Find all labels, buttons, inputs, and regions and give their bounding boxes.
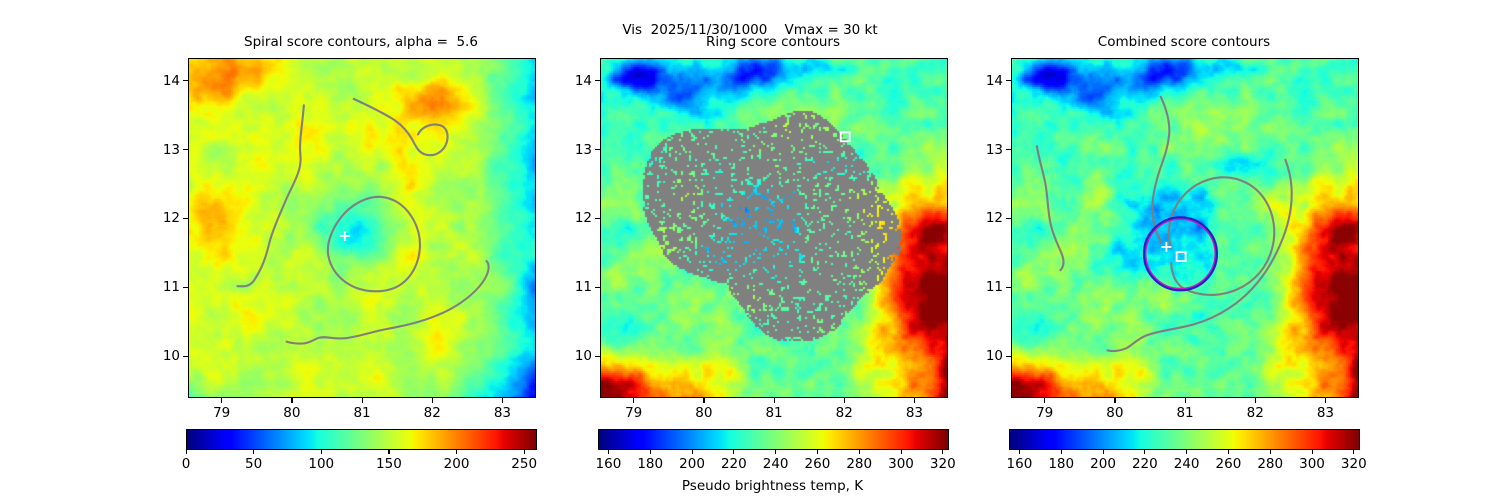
overlay-layer-combined <box>1012 59 1358 397</box>
x-tick-label-ring-1: 80 <box>695 405 712 421</box>
y-tick-label-combined-1: 11 <box>965 279 1003 295</box>
y-tick-label-ring-1: 11 <box>554 279 592 295</box>
y-tick-mark <box>1006 287 1011 288</box>
x-tick-mark <box>502 398 503 403</box>
colorbar-tick-mark <box>1144 450 1145 454</box>
score-contour-line <box>1169 177 1274 295</box>
x-tick-mark <box>1255 398 1256 403</box>
colorbar-tick-label-ring-6: 280 <box>846 456 872 472</box>
plot-area-spiral[interactable] <box>188 58 536 398</box>
colorbar-tick-mark <box>321 450 322 454</box>
colorbar-gradient-ring <box>599 430 948 449</box>
y-tick-mark <box>183 356 188 357</box>
overlay-layer-spiral <box>189 59 535 397</box>
y-tick-label-combined-2: 12 <box>965 210 1003 226</box>
colorbar-axis-label: Pseudo brightness temp, K <box>682 478 863 494</box>
x-tick-mark <box>432 398 433 403</box>
colorbar-tick-mark <box>817 450 818 454</box>
storm-center-plus-marker <box>340 231 350 241</box>
colorbar-tick-label-combined-8: 320 <box>1341 456 1367 472</box>
colorbar-tick-label-ring-5: 260 <box>805 456 831 472</box>
colorbar-tick-label-combined-5: 260 <box>1216 456 1242 472</box>
x-tick-label-combined-0: 79 <box>1036 405 1053 421</box>
x-tick-mark <box>221 398 222 403</box>
colorbar-gradient-spiral <box>187 430 536 449</box>
colorbar-tick-label-combined-4: 240 <box>1174 456 1200 472</box>
x-tick-label-spiral-3: 82 <box>424 405 441 421</box>
x-tick-mark <box>1325 398 1326 403</box>
colorbar-tick-label-combined-6: 280 <box>1257 456 1283 472</box>
x-tick-mark <box>633 398 634 403</box>
y-tick-label-spiral-0: 10 <box>142 348 180 364</box>
colorbar-tick-mark <box>1019 450 1020 454</box>
x-tick-label-spiral-0: 79 <box>213 405 230 421</box>
y-tick-mark <box>1006 149 1011 150</box>
colorbar-tick-label-combined-2: 200 <box>1090 456 1116 472</box>
colorbar-tick-mark <box>456 450 457 454</box>
figure-canvas: Vis 2025/11/30/1000 Vmax = 30 kt Spiral … <box>0 0 1500 500</box>
colorbar-tick-mark <box>608 450 609 454</box>
x-tick-label-combined-1: 80 <box>1106 405 1123 421</box>
y-tick-label-combined-4: 14 <box>965 73 1003 89</box>
colorbar-tick-label-combined-7: 300 <box>1299 456 1325 472</box>
x-tick-mark <box>1185 398 1186 403</box>
colorbar-ring[interactable] <box>598 429 949 450</box>
y-tick-mark <box>1006 80 1011 81</box>
score-contour-line <box>237 105 303 286</box>
ring-score-circle <box>1144 217 1217 290</box>
colorbar-tick-label-ring-4: 240 <box>763 456 789 472</box>
colorbar-tick-label-spiral-1: 50 <box>245 456 262 472</box>
score-contour-line <box>1037 146 1063 270</box>
y-tick-label-spiral-3: 13 <box>142 142 180 158</box>
x-tick-label-spiral-4: 83 <box>494 405 511 421</box>
panel-title-spiral: Spiral score contours, alpha = 5.6 <box>188 34 534 50</box>
colorbar-tick-label-combined-3: 220 <box>1132 456 1158 472</box>
x-tick-mark <box>774 398 775 403</box>
x-tick-mark <box>362 398 363 403</box>
x-tick-mark <box>291 398 292 403</box>
best-fit-square-marker <box>1177 252 1186 261</box>
score-contour-line <box>287 261 489 344</box>
colorbar-tick-label-ring-3: 220 <box>721 456 747 472</box>
y-tick-mark <box>595 80 600 81</box>
x-tick-label-ring-4: 83 <box>906 405 923 421</box>
overlay-layer-ring <box>601 59 947 397</box>
y-tick-label-ring-3: 13 <box>554 142 592 158</box>
y-tick-label-combined-3: 13 <box>965 142 1003 158</box>
panel-title-ring: Ring score contours <box>600 34 946 50</box>
colorbar-tick-mark <box>650 450 651 454</box>
y-tick-label-ring-2: 12 <box>554 210 592 226</box>
x-tick-mark <box>844 398 845 403</box>
colorbar-spiral[interactable] <box>186 429 537 450</box>
plot-area-ring[interactable] <box>600 58 948 398</box>
colorbar-tick-mark <box>775 450 776 454</box>
y-tick-mark <box>595 287 600 288</box>
x-tick-label-combined-2: 81 <box>1176 405 1193 421</box>
colorbar-tick-mark <box>942 450 943 454</box>
x-tick-label-ring-0: 79 <box>625 405 642 421</box>
colorbar-tick-label-combined-0: 160 <box>1007 456 1033 472</box>
x-tick-label-spiral-2: 81 <box>353 405 370 421</box>
colorbar-tick-mark <box>733 450 734 454</box>
colorbar-tick-mark <box>1353 450 1354 454</box>
colorbar-tick-mark <box>388 450 389 454</box>
colorbar-tick-label-ring-0: 160 <box>596 456 622 472</box>
y-tick-mark <box>1006 218 1011 219</box>
y-tick-mark <box>595 218 600 219</box>
x-tick-label-ring-2: 81 <box>765 405 782 421</box>
x-tick-mark <box>914 398 915 403</box>
y-tick-mark <box>1006 356 1011 357</box>
y-tick-label-spiral-1: 11 <box>142 279 180 295</box>
x-tick-mark <box>1044 398 1045 403</box>
colorbar-tick-label-ring-8: 320 <box>930 456 956 472</box>
panel-title-combined: Combined score contours <box>1011 34 1357 50</box>
colorbar-tick-mark <box>1186 450 1187 454</box>
y-tick-label-spiral-4: 14 <box>142 73 180 89</box>
colorbar-gradient-combined <box>1010 430 1359 449</box>
colorbar-tick-label-combined-1: 180 <box>1048 456 1074 472</box>
colorbar-tick-label-ring-7: 300 <box>888 456 914 472</box>
colorbar-tick-mark <box>859 450 860 454</box>
colorbar-tick-mark <box>253 450 254 454</box>
colorbar-combined[interactable] <box>1009 429 1360 450</box>
y-tick-mark <box>183 218 188 219</box>
colorbar-tick-label-spiral-2: 100 <box>308 456 334 472</box>
colorbar-tick-mark <box>186 450 187 454</box>
colorbar-tick-mark <box>1103 450 1104 454</box>
x-tick-mark <box>1114 398 1115 403</box>
colorbar-tick-label-ring-1: 180 <box>637 456 663 472</box>
colorbar-tick-label-spiral-5: 250 <box>511 456 537 472</box>
x-tick-label-spiral-1: 80 <box>283 405 300 421</box>
y-tick-label-ring-4: 14 <box>554 73 592 89</box>
best-fit-square-marker <box>841 132 850 141</box>
ring-score-circle <box>1145 219 1215 289</box>
colorbar-tick-mark <box>1061 450 1062 454</box>
y-tick-mark <box>183 287 188 288</box>
y-tick-label-combined-0: 10 <box>965 348 1003 364</box>
score-contour-line <box>354 99 448 155</box>
colorbar-tick-mark <box>524 450 525 454</box>
y-tick-label-spiral-2: 12 <box>142 210 180 226</box>
y-tick-label-ring-0: 10 <box>554 348 592 364</box>
x-tick-mark <box>703 398 704 403</box>
colorbar-tick-label-spiral-3: 150 <box>376 456 402 472</box>
plot-area-combined[interactable] <box>1011 58 1359 398</box>
colorbar-tick-label-ring-2: 200 <box>679 456 705 472</box>
x-tick-label-combined-4: 83 <box>1317 405 1334 421</box>
colorbar-tick-mark <box>901 450 902 454</box>
x-tick-label-combined-3: 82 <box>1247 405 1264 421</box>
score-contour-line <box>1126 160 1291 349</box>
y-tick-mark <box>595 356 600 357</box>
y-tick-mark <box>183 149 188 150</box>
colorbar-tick-mark <box>1312 450 1313 454</box>
x-tick-label-ring-3: 82 <box>836 405 853 421</box>
colorbar-tick-mark <box>1228 450 1229 454</box>
score-contour-line <box>328 197 420 291</box>
y-tick-mark <box>595 149 600 150</box>
y-tick-mark <box>183 80 188 81</box>
colorbar-tick-label-spiral-4: 200 <box>444 456 470 472</box>
colorbar-tick-mark <box>1270 450 1271 454</box>
score-contour-line <box>1108 348 1127 351</box>
colorbar-tick-label-spiral-0: 0 <box>182 456 191 472</box>
colorbar-tick-mark <box>692 450 693 454</box>
